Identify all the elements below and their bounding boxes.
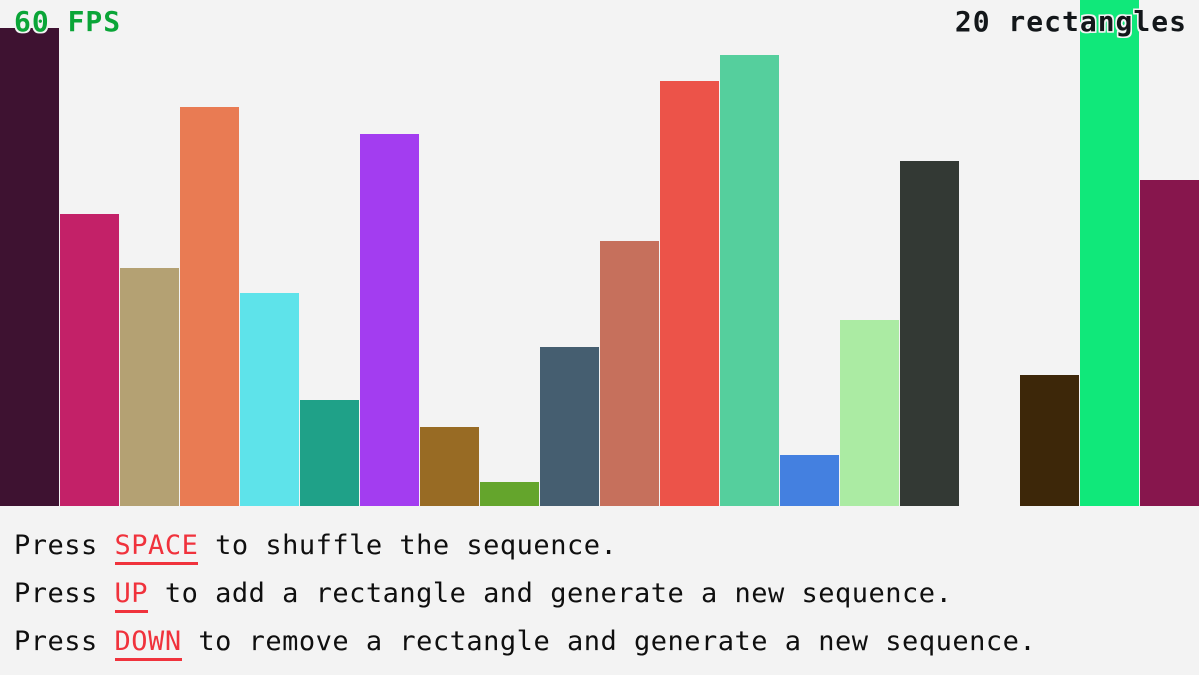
instruction-prefix: Press	[14, 578, 115, 609]
key-space[interactable]: SPACE	[115, 530, 199, 565]
bar-8-ochre	[420, 427, 479, 506]
instruction-prefix: Press	[14, 530, 115, 561]
bar-7-purple	[360, 134, 419, 506]
fps-counter: 60 FPS	[14, 8, 121, 36]
instruction-suffix: to remove a rectangle and generate a new…	[182, 626, 1037, 657]
key-down[interactable]: DOWN	[115, 626, 182, 661]
instruction-prefix: Press	[14, 626, 115, 657]
instructions-panel: Press SPACE to shuffle the sequence.Pres…	[0, 510, 1199, 675]
rectangle-chart[interactable]	[0, 0, 1199, 510]
bar-20-maroon	[1140, 180, 1199, 506]
instruction-line-3: Press DOWN to remove a rectangle and gen…	[14, 618, 1199, 666]
bar-10-slate-blue	[540, 347, 599, 506]
key-up[interactable]: UP	[115, 578, 149, 613]
bar-18-dark-brown	[1020, 375, 1079, 506]
bar-5-cyan	[240, 293, 299, 506]
instruction-suffix: to add a rectangle and generate a new se…	[148, 578, 952, 609]
bar-16-charcoal	[900, 161, 959, 506]
rectangle-count-label: 20 rectangles	[955, 8, 1187, 36]
bar-6-teal	[300, 400, 359, 506]
bar-13-emerald	[720, 55, 779, 506]
bar-12-red	[660, 81, 719, 506]
bar-1-dark-plum	[0, 28, 59, 506]
bar-3-tan	[120, 268, 179, 506]
instruction-suffix: to shuffle the sequence.	[198, 530, 617, 561]
bar-11-brick	[600, 241, 659, 506]
bar-9-olive-green	[480, 482, 539, 506]
bar-2-magenta	[60, 214, 119, 506]
instruction-line-1: Press SPACE to shuffle the sequence.	[14, 522, 1199, 570]
instruction-line-2: Press UP to add a rectangle and generate…	[14, 570, 1199, 618]
bar-4-orange	[180, 107, 239, 506]
bar-15-light-green	[840, 320, 899, 506]
bar-19-spring-green	[1080, 0, 1139, 506]
app-root: 60 FPS 20 rectangles Press SPACE to shuf…	[0, 0, 1199, 675]
bar-14-cornflower-blue	[780, 455, 839, 506]
